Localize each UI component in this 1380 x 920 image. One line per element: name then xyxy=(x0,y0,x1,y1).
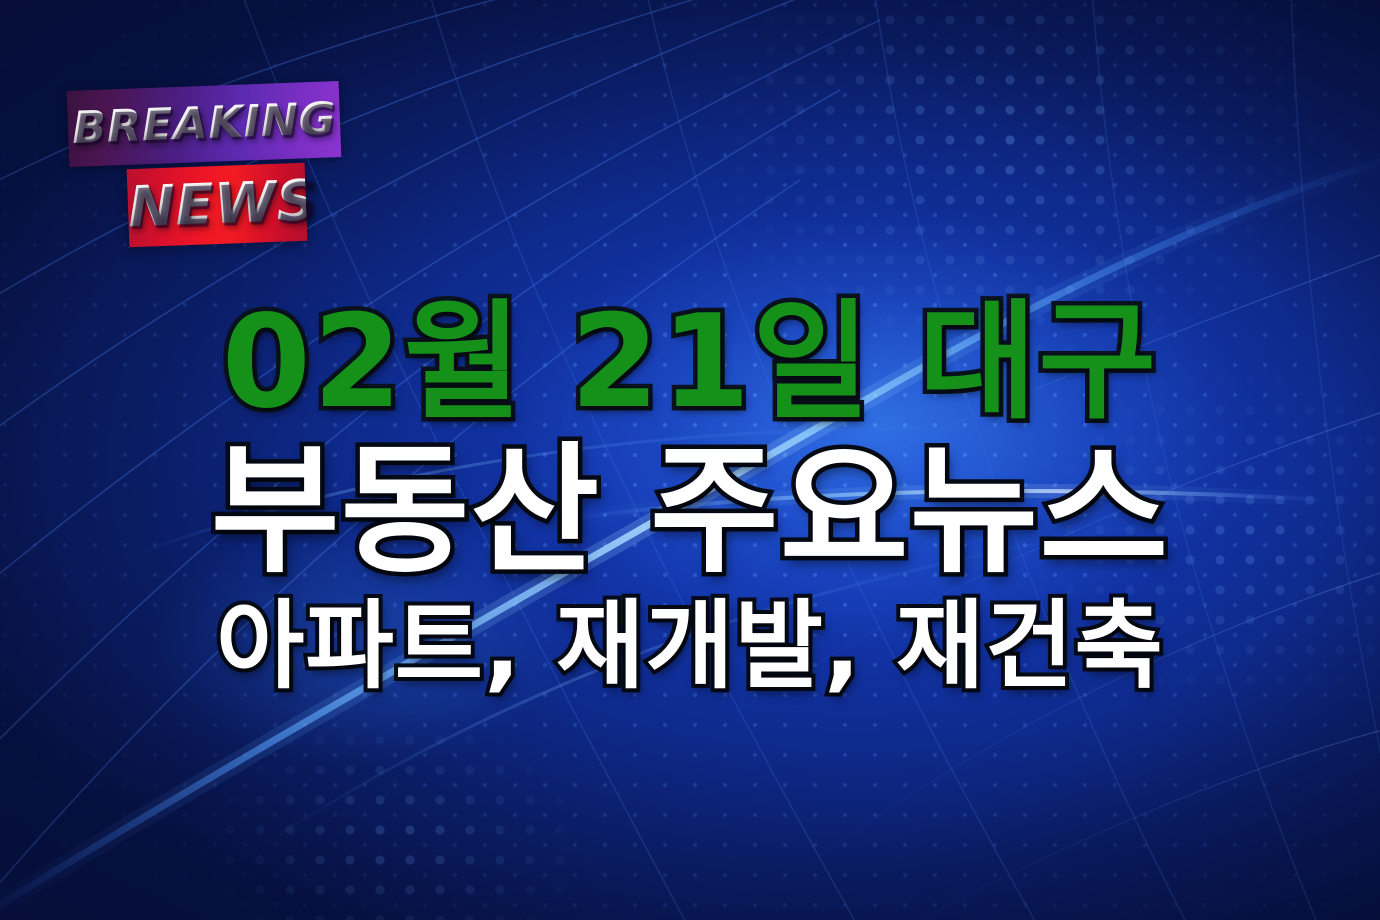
breaking-bar: BREAKING xyxy=(67,81,342,167)
breaking-label: BREAKING xyxy=(64,94,343,154)
thumbnail-canvas: BREAKING NEWS 02월 21일 대구 부동산 주요뉴스 아파트, 재… xyxy=(0,0,1380,920)
news-bar: NEWS xyxy=(127,163,308,247)
breaking-news-badge: BREAKING NEWS xyxy=(58,86,358,251)
news-label: NEWS xyxy=(127,172,307,238)
